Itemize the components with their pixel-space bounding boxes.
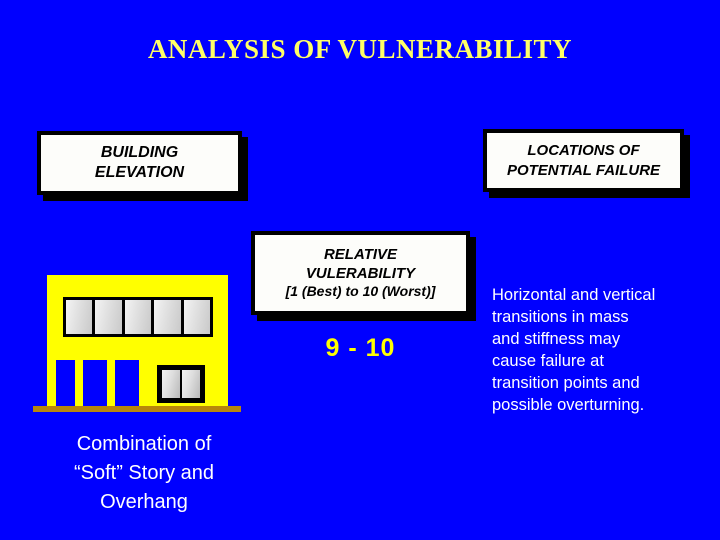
building-elevation-diagram (0, 0, 300, 430)
callout-locations-failure-line2: POTENTIAL FAILURE (507, 161, 660, 180)
ground-floor-window (157, 365, 205, 403)
figure-caption-line-1: Combination of (28, 430, 260, 459)
building-left-wall (47, 360, 56, 408)
figure-caption-line-2: “Soft” Story and (28, 459, 260, 488)
description-line-6: possible overturning. (492, 395, 706, 417)
description-line-4: cause failure at (492, 351, 706, 373)
description-line-1: Horizontal and vertical (492, 285, 706, 307)
window-pane (63, 297, 95, 337)
soft-story-column (107, 360, 115, 408)
slide-canvas: ANALYSIS OF VULNERABILITY BUILDING ELEVA… (0, 0, 720, 540)
figure-caption-line-3: Overhang (28, 488, 260, 517)
callout-locations-failure-line1: LOCATIONS OF (527, 141, 639, 160)
failure-description-text: Horizontal and vertical transitions in m… (492, 285, 706, 417)
callout-relative-vulnerability-scale: [1 (Best) to 10 (Worst)] (286, 283, 436, 301)
window-pane (92, 297, 124, 337)
window-pane (181, 297, 213, 337)
window-pane (122, 297, 154, 337)
description-line-2: transitions in mass (492, 307, 706, 329)
callout-relative-vulnerability-line2: VULERABILITY (306, 264, 415, 283)
window-pane (161, 369, 181, 399)
callout-locations-of-potential-failure: LOCATIONS OF POTENTIAL FAILURE (483, 129, 684, 192)
soft-story-column (75, 360, 83, 408)
callout-relative-vulnerability-line1: RELATIVE (324, 245, 397, 264)
description-line-5: transition points and (492, 373, 706, 395)
window-pane (151, 297, 183, 337)
figure-caption: Combination of “Soft” Story and Overhang (28, 430, 260, 517)
upper-storey-window-strip (63, 297, 213, 337)
window-pane (181, 369, 201, 399)
description-line-3: and stiffness may (492, 329, 706, 351)
ground-line (33, 406, 241, 412)
